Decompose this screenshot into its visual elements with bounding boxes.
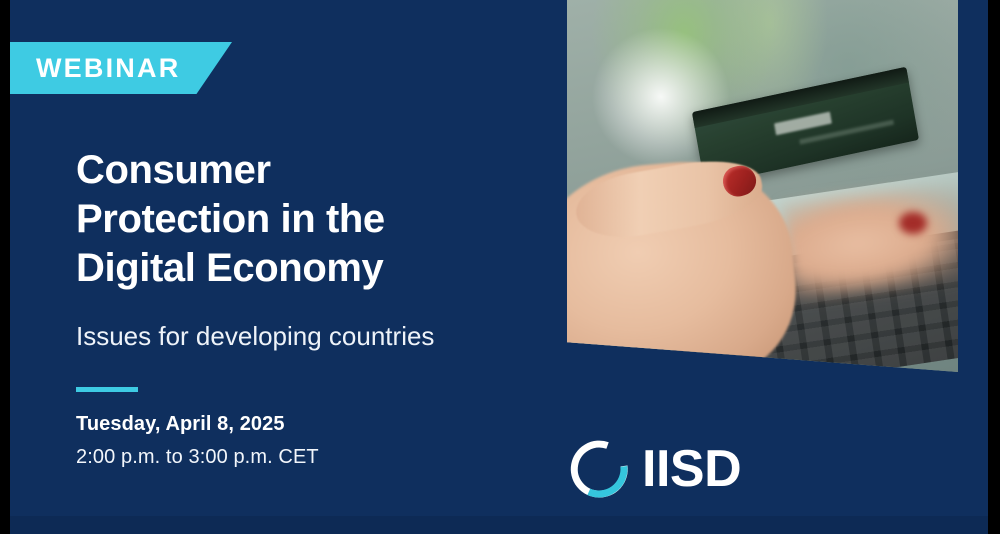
accent-divider bbox=[76, 387, 138, 392]
background-hand bbox=[781, 183, 958, 301]
webinar-ribbon: WEBINAR bbox=[10, 42, 232, 94]
page-title: Consumer Protection in the Digital Econo… bbox=[76, 146, 546, 292]
iisd-logo: IISD bbox=[568, 438, 741, 500]
title-block: Consumer Protection in the Digital Econo… bbox=[76, 146, 546, 353]
event-time: 2:00 p.m. to 3:00 p.m. CET bbox=[76, 444, 496, 471]
background-hand-nail bbox=[899, 212, 926, 234]
hero-photo bbox=[567, 0, 958, 372]
letterbox-bar-right bbox=[988, 0, 1000, 534]
photo-backdrop bbox=[567, 0, 958, 372]
webinar-promo-poster: WEBINAR Consumer Protection in the Digit… bbox=[0, 0, 1000, 534]
webinar-ribbon-label: WEBINAR bbox=[10, 55, 180, 82]
poster-background-footer bbox=[10, 516, 988, 534]
event-date: Tuesday, April 8, 2025 bbox=[76, 411, 496, 438]
page-subtitle: Issues for developing countries bbox=[76, 320, 546, 353]
letterbox-bar-left bbox=[0, 0, 10, 534]
iisd-wordmark: IISD bbox=[642, 443, 741, 495]
schedule-block: Tuesday, April 8, 2025 2:00 p.m. to 3:00… bbox=[76, 411, 496, 471]
iisd-ring-icon bbox=[568, 438, 630, 500]
credit-card-stripe bbox=[774, 112, 832, 136]
